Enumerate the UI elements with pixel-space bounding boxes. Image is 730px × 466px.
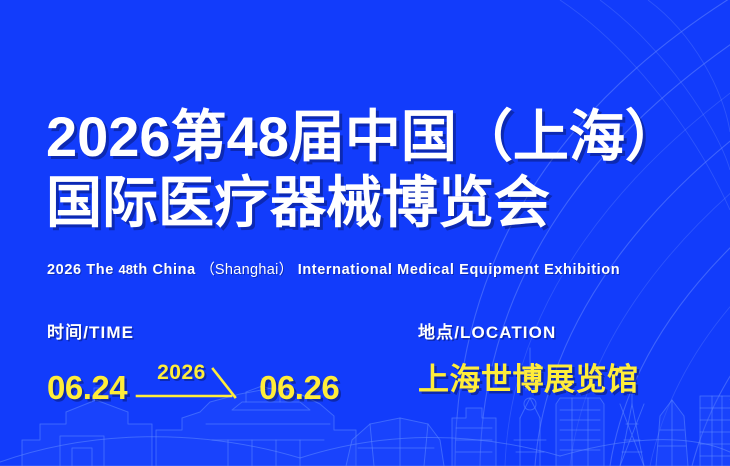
time-label: 时间/TIME xyxy=(47,318,339,343)
subtitle-prefix: 2026 The xyxy=(47,262,119,278)
exhibition-banner: 2026第48届中国（上海） 国际医疗器械博览会 2026 The 48th C… xyxy=(0,0,730,466)
location-block: 地点/LOCATION 上海世博展览馆 xyxy=(418,318,639,397)
subtitle-city: Shanghai xyxy=(215,262,279,278)
banner-content: 2026第48届中国（上海） 国际医疗器械博览会 2026 The 48th C… xyxy=(0,0,730,466)
title-line-1: 2026第48届中国（上海） xyxy=(46,104,681,170)
subtitle-tail: International Medical Equipment Exhibiti… xyxy=(293,262,620,278)
subtitle-english: 2026 The 48th China （Shanghai） Internati… xyxy=(47,258,620,279)
arrow-diagonal xyxy=(213,369,235,397)
end-date: 06.26 xyxy=(259,371,339,405)
subtitle-edition: 48 xyxy=(119,262,133,277)
time-block: 时间/TIME 06.24 2026 06.26 xyxy=(47,318,339,405)
date-range: 06.24 2026 06.26 xyxy=(47,363,339,405)
page-title: 2026第48届中国（上海） 国际医疗器械博览会 xyxy=(46,104,681,236)
subtitle-edition-suffix: th xyxy=(133,262,148,278)
subtitle-paren-open: （ xyxy=(200,262,215,278)
subtitle-paren-close: ） xyxy=(279,262,294,278)
location-label: 地点/LOCATION xyxy=(418,318,639,343)
year-arrow-graphic: 2026 xyxy=(135,363,253,405)
start-date: 06.24 xyxy=(47,371,127,405)
title-line-2: 国际医疗器械博览会 xyxy=(46,170,681,236)
venue-name: 上海世博展览馆 xyxy=(418,363,639,397)
subtitle-country: China xyxy=(148,262,201,278)
